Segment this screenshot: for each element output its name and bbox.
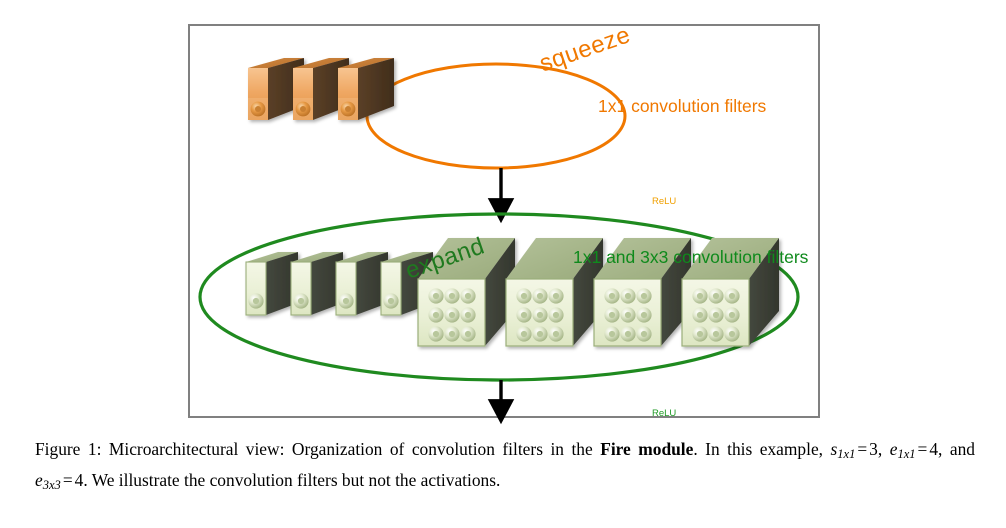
caption-e3-var: e (35, 470, 43, 490)
caption-s-value: 3 (869, 439, 878, 459)
caption-prefix: Figure 1: Microarchitectural view: Organ… (35, 439, 600, 459)
squeeze-filter-block (338, 58, 394, 120)
squeeze-ellipse (367, 64, 625, 168)
expand-filter-block-1x1 (291, 252, 343, 315)
caption-e3-sub: 3x3 (43, 478, 61, 492)
squeeze-group (248, 58, 625, 168)
figure-panel: squeeze 1x1 convolution filters ReLU exp… (188, 24, 820, 418)
caption-s-sub: 1x1 (837, 447, 855, 461)
caption-e1-value: 4 (929, 439, 938, 459)
figure-diagram (190, 26, 822, 420)
squeeze-title: 1x1 convolution filters (598, 96, 766, 117)
stud-grid-3x3 (692, 288, 739, 341)
caption-bold-term: Fire module (600, 439, 693, 459)
caption-equals-1: = (855, 439, 869, 459)
figure-caption: Figure 1: Microarchitectural view: Organ… (35, 437, 975, 498)
caption-sep-2: , and (938, 439, 975, 459)
caption-middle: . In this example, (693, 439, 830, 459)
caption-equals-2: = (916, 439, 930, 459)
caption-sep-1: , (878, 439, 890, 459)
caption-suffix: . We illustrate the convolution filters … (83, 470, 500, 490)
expand-group (200, 214, 798, 380)
expand-filter-block-1x1 (336, 252, 388, 315)
stud-grid-3x3 (428, 288, 475, 341)
expand-filter-block-1x1 (246, 252, 298, 315)
squeeze-relu-label: ReLU (652, 196, 676, 207)
expand-relu-label: ReLU (652, 408, 676, 419)
stud-grid-3x3 (516, 288, 563, 341)
expand-title: 1x1 and 3x3 convolution filters (573, 247, 808, 268)
caption-e1-sub: 1x1 (897, 447, 915, 461)
caption-equals-3: = (61, 470, 75, 490)
stud-grid-3x3 (604, 288, 651, 341)
